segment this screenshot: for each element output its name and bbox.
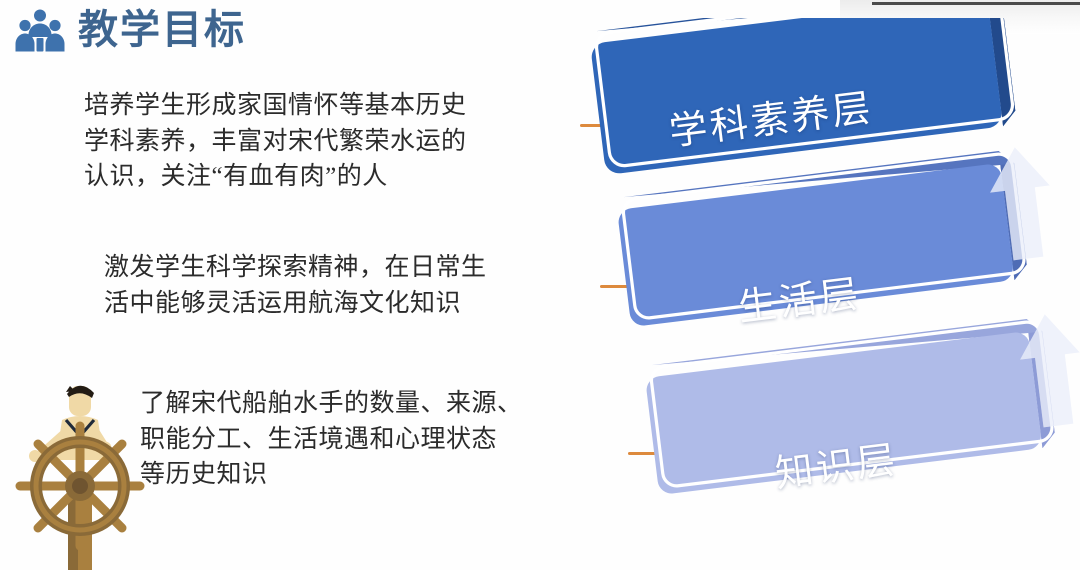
objective-text-life-layer: 激发学生科学探索精神，在日常生 活中能够灵活运用航海文化知识 bbox=[104, 250, 594, 321]
sailor-at-ships-wheel-illustration bbox=[6, 368, 156, 570]
slide-canvas: 教学目标 培养学生形成家国情怀等基本历史 学科素养，丰富对宋代繁荣水运的 认识，… bbox=[0, 0, 1080, 570]
people-group-icon bbox=[14, 8, 66, 52]
page-title: 教学目标 bbox=[78, 10, 246, 50]
objective-text-knowledge-layer: 了解宋代船舶水手的数量、来源、 职能分工、生活境遇和心理状态 等历史知识 bbox=[140, 386, 610, 493]
slide-header: 教学目标 bbox=[14, 8, 246, 52]
top-rule-divider bbox=[872, 2, 1080, 5]
objective-text-subject-literacy: 培养学生形成家国情怀等基本历史 学科素养，丰富对宋代繁荣水运的 认识，关注“有血… bbox=[84, 88, 584, 195]
